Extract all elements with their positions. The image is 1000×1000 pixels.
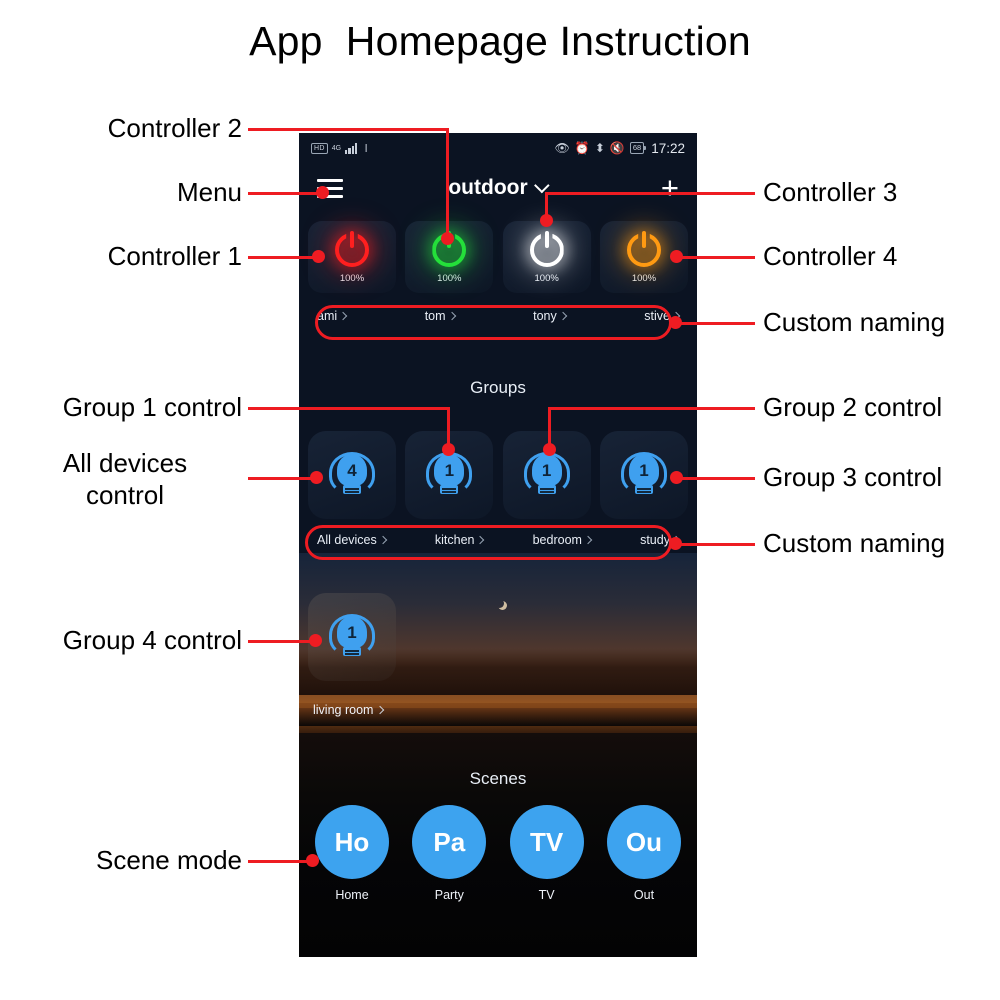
leader-group-2 bbox=[548, 407, 755, 410]
bulb-icon: 4 bbox=[327, 450, 377, 500]
network-type-label: 4G bbox=[332, 145, 341, 152]
brightness-label: 100% bbox=[340, 273, 364, 284]
leader-controller-4 bbox=[676, 256, 755, 259]
bulb-icon: 1 bbox=[424, 450, 474, 500]
leader-dot bbox=[540, 214, 553, 227]
bulb-icon: 1 bbox=[327, 612, 377, 662]
power-icon[interactable] bbox=[624, 230, 664, 270]
battery-icon: 68 bbox=[630, 142, 644, 154]
scene-abbr[interactable]: Pa bbox=[412, 805, 486, 879]
scene-party[interactable]: Pa Party bbox=[405, 805, 493, 902]
power-icon[interactable] bbox=[332, 230, 372, 270]
scenes-row: Ho Home Pa Party TV TV Ou Out bbox=[308, 805, 688, 902]
hd-icon: HD bbox=[311, 143, 328, 154]
annotation-group-4: Group 4 control bbox=[8, 625, 242, 657]
leader-dot bbox=[312, 250, 325, 263]
leader-group-4 bbox=[248, 640, 316, 643]
annotation-custom-naming-2: Custom naming bbox=[763, 528, 998, 560]
room-selector[interactable]: outdoor bbox=[448, 176, 547, 200]
groups-row: 4 1 1 1 bbox=[308, 431, 688, 519]
leader-menu bbox=[248, 192, 326, 195]
leader-dot bbox=[441, 232, 454, 245]
leader-dot bbox=[670, 250, 683, 263]
leader-dot bbox=[442, 443, 455, 456]
bulb-icon: 1 bbox=[619, 450, 669, 500]
status-bar: HD 4G ⏽ 👁 ⏰ ⬍ 🔇 68 17:22 bbox=[299, 133, 697, 163]
groups-heading: Groups bbox=[299, 378, 697, 398]
annotation-controller-2: Controller 2 bbox=[20, 113, 242, 145]
device-count: 1 bbox=[542, 462, 551, 479]
chevron-right-icon bbox=[376, 706, 384, 714]
add-device-button[interactable]: + bbox=[661, 176, 679, 200]
leader-dot bbox=[669, 316, 682, 329]
leader-custom-naming-2 bbox=[676, 543, 755, 546]
room-title: outdoor bbox=[448, 176, 527, 200]
clock-label: 17:22 bbox=[651, 141, 685, 156]
leader-custom-naming-1 bbox=[676, 322, 755, 325]
scenes-heading: Scenes bbox=[299, 769, 697, 789]
leader-dot bbox=[543, 443, 556, 456]
page-title: App Homepage Instruction bbox=[0, 18, 1000, 65]
scene-abbr[interactable]: Ou bbox=[607, 805, 681, 879]
mute-icon: 🔇 bbox=[610, 142, 625, 154]
chevron-down-icon[interactable] bbox=[534, 178, 550, 194]
app-bar: outdoor + bbox=[299, 165, 697, 211]
annotation-scene-mode: Scene mode bbox=[8, 845, 242, 877]
scene-label: TV bbox=[539, 888, 555, 902]
leader-all-devices bbox=[248, 477, 318, 480]
leader-controller-1 bbox=[248, 256, 321, 259]
annotation-custom-naming-1: Custom naming bbox=[763, 307, 998, 339]
leader-group-3 bbox=[676, 477, 755, 480]
scene-abbr[interactable]: TV bbox=[510, 805, 584, 879]
device-count: 1 bbox=[347, 624, 356, 641]
annotation-controller-1: Controller 1 bbox=[20, 241, 242, 273]
brightness-label: 100% bbox=[437, 273, 461, 284]
device-count: 1 bbox=[639, 462, 648, 479]
scene-label: Out bbox=[634, 888, 654, 902]
leader-dot bbox=[309, 634, 322, 647]
device-count: 4 bbox=[347, 462, 356, 479]
leader-dot bbox=[669, 537, 682, 550]
leader-controller-2 bbox=[248, 128, 448, 131]
leader-controller-3 bbox=[545, 192, 755, 195]
leader-scene-mode bbox=[248, 860, 314, 863]
annotation-menu: Menu bbox=[20, 177, 242, 209]
annotation-all-devices: All devices control bbox=[8, 448, 242, 511]
scene-label: Home bbox=[335, 888, 368, 902]
annotation-group-1: Group 1 control bbox=[8, 392, 242, 424]
controllers-row: 100% 100% 100% 100% bbox=[308, 221, 688, 293]
leader-dot bbox=[316, 186, 329, 199]
leader-controller-2-drop bbox=[446, 128, 449, 238]
brightness-label: 100% bbox=[535, 273, 559, 284]
scene-label: Party bbox=[435, 888, 464, 902]
annotation-group-2: Group 2 control bbox=[763, 392, 998, 424]
signal-bars-icon bbox=[345, 143, 357, 154]
scene-tv[interactable]: TV TV bbox=[503, 805, 591, 902]
annotation-group-3: Group 3 control bbox=[763, 462, 998, 494]
power-icon[interactable] bbox=[527, 230, 567, 270]
bulb-icon: 1 bbox=[522, 450, 572, 500]
wifi-icon: ⏽ bbox=[361, 142, 371, 154]
leader-dot bbox=[310, 471, 323, 484]
eye-icon: 👁 bbox=[555, 142, 570, 154]
device-count: 1 bbox=[445, 462, 454, 479]
label: living room bbox=[313, 703, 373, 717]
instruction-figure: App Homepage Instruction HD 4G ⏽ 👁 ⏰ ⬍ bbox=[0, 0, 1000, 1000]
leader-dot bbox=[670, 471, 683, 484]
controller-3[interactable]: 100% bbox=[503, 221, 591, 293]
scene-out[interactable]: Ou Out bbox=[600, 805, 688, 902]
scene-home[interactable]: Ho Home bbox=[308, 805, 396, 902]
callout-group-names bbox=[305, 525, 672, 560]
bluetooth-icon: ⬍ bbox=[595, 142, 605, 154]
annotation-controller-3: Controller 3 bbox=[763, 177, 998, 209]
leader-dot bbox=[306, 854, 319, 867]
callout-controller-names bbox=[315, 305, 672, 340]
alarm-icon: ⏰ bbox=[575, 142, 590, 154]
group-name-living-room[interactable]: living room bbox=[313, 703, 383, 717]
leader-group-1 bbox=[248, 407, 450, 410]
scene-abbr[interactable]: Ho bbox=[315, 805, 389, 879]
annotation-controller-4: Controller 4 bbox=[763, 241, 998, 273]
brightness-label: 100% bbox=[632, 273, 656, 284]
